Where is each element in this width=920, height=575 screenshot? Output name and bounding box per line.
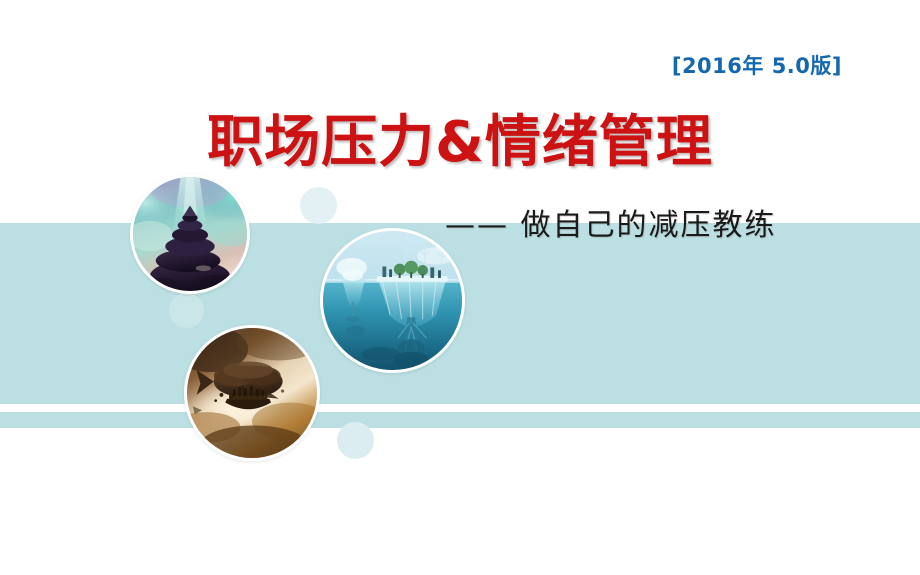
subtitle: —— 做自己的减压教练 bbox=[445, 200, 777, 244]
version-tag: [2016年 5.0版] bbox=[672, 50, 842, 80]
page-title: 职场压力&情绪管理 bbox=[0, 114, 920, 173]
underwater-island-illustration bbox=[323, 231, 462, 370]
background-band-strip bbox=[0, 412, 920, 428]
decorative-bubble-c bbox=[337, 422, 374, 459]
presentation-title-slide: [2016年 5.0版] 职场压力&情绪管理 —— 做自己的减压教练 bbox=[0, 0, 920, 575]
photo-fish-airship bbox=[184, 325, 320, 461]
decorative-bubble-a bbox=[300, 187, 337, 224]
photo-underwater-island bbox=[320, 228, 465, 373]
photo-zen-stones bbox=[130, 174, 250, 294]
zen-stones-illustration bbox=[133, 177, 247, 291]
decorative-bubble-b bbox=[169, 293, 204, 328]
fish-airship-illustration bbox=[187, 328, 317, 458]
